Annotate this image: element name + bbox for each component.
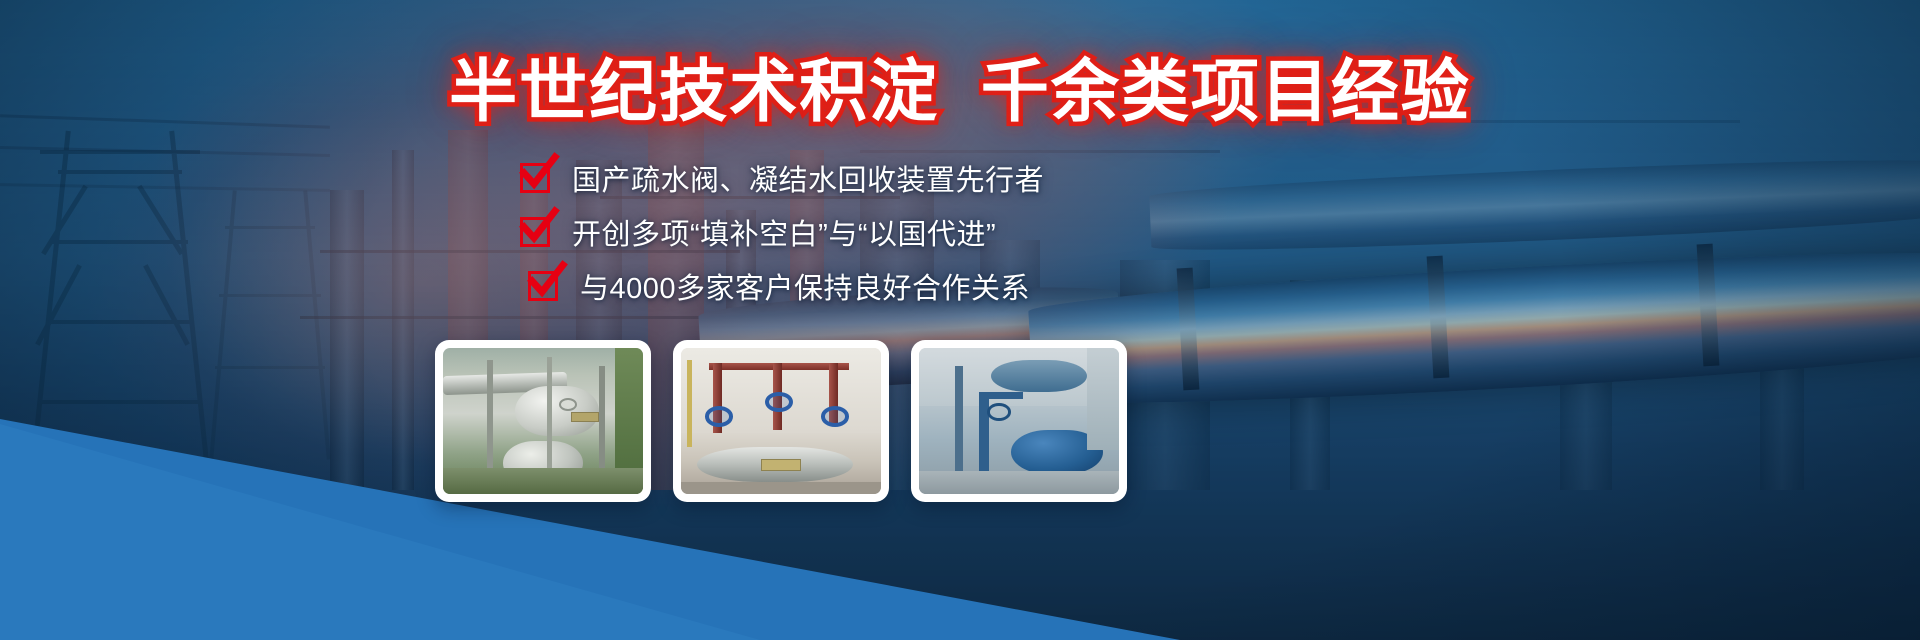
list-item-label: 开创多项“填补空白”与“以国代进” bbox=[572, 211, 996, 253]
feature-list: 国产疏水阀、凝结水回收装置先行者 开创多项“填补空白”与“以国代进” 与4000… bbox=[520, 152, 1140, 312]
list-item-label: 与4000多家客户保持良好合作关系 bbox=[580, 265, 1030, 307]
blue-vessel-pump-skid-photo bbox=[919, 348, 1119, 494]
list-item: 国产疏水阀、凝结水回收装置先行者 bbox=[520, 152, 1140, 204]
red-pipe-valve-skid-photo bbox=[681, 348, 881, 494]
marketing-banner: 半世纪技术积淀 千余类项目经验 国产疏水阀、凝结水回收装置先行者 开创多项“填补… bbox=[0, 0, 1920, 640]
list-item: 与4000多家客户保持良好合作关系 bbox=[520, 260, 1140, 312]
list-item: 开创多项“填补空白”与“以国代进” bbox=[520, 206, 1140, 258]
product-photo-gallery bbox=[435, 340, 1127, 502]
check-box-icon bbox=[528, 271, 558, 301]
condensate-recovery-vessel-photo bbox=[443, 348, 643, 494]
product-photo-card[interactable] bbox=[911, 340, 1127, 502]
page-title: 半世纪技术积淀 千余类项目经验 bbox=[0, 36, 1920, 135]
product-photo-card[interactable] bbox=[673, 340, 889, 502]
check-box-icon bbox=[520, 163, 550, 193]
product-photo-card[interactable] bbox=[435, 340, 651, 502]
list-item-label: 国产疏水阀、凝结水回收装置先行者 bbox=[572, 157, 1044, 199]
check-box-icon bbox=[520, 217, 550, 247]
